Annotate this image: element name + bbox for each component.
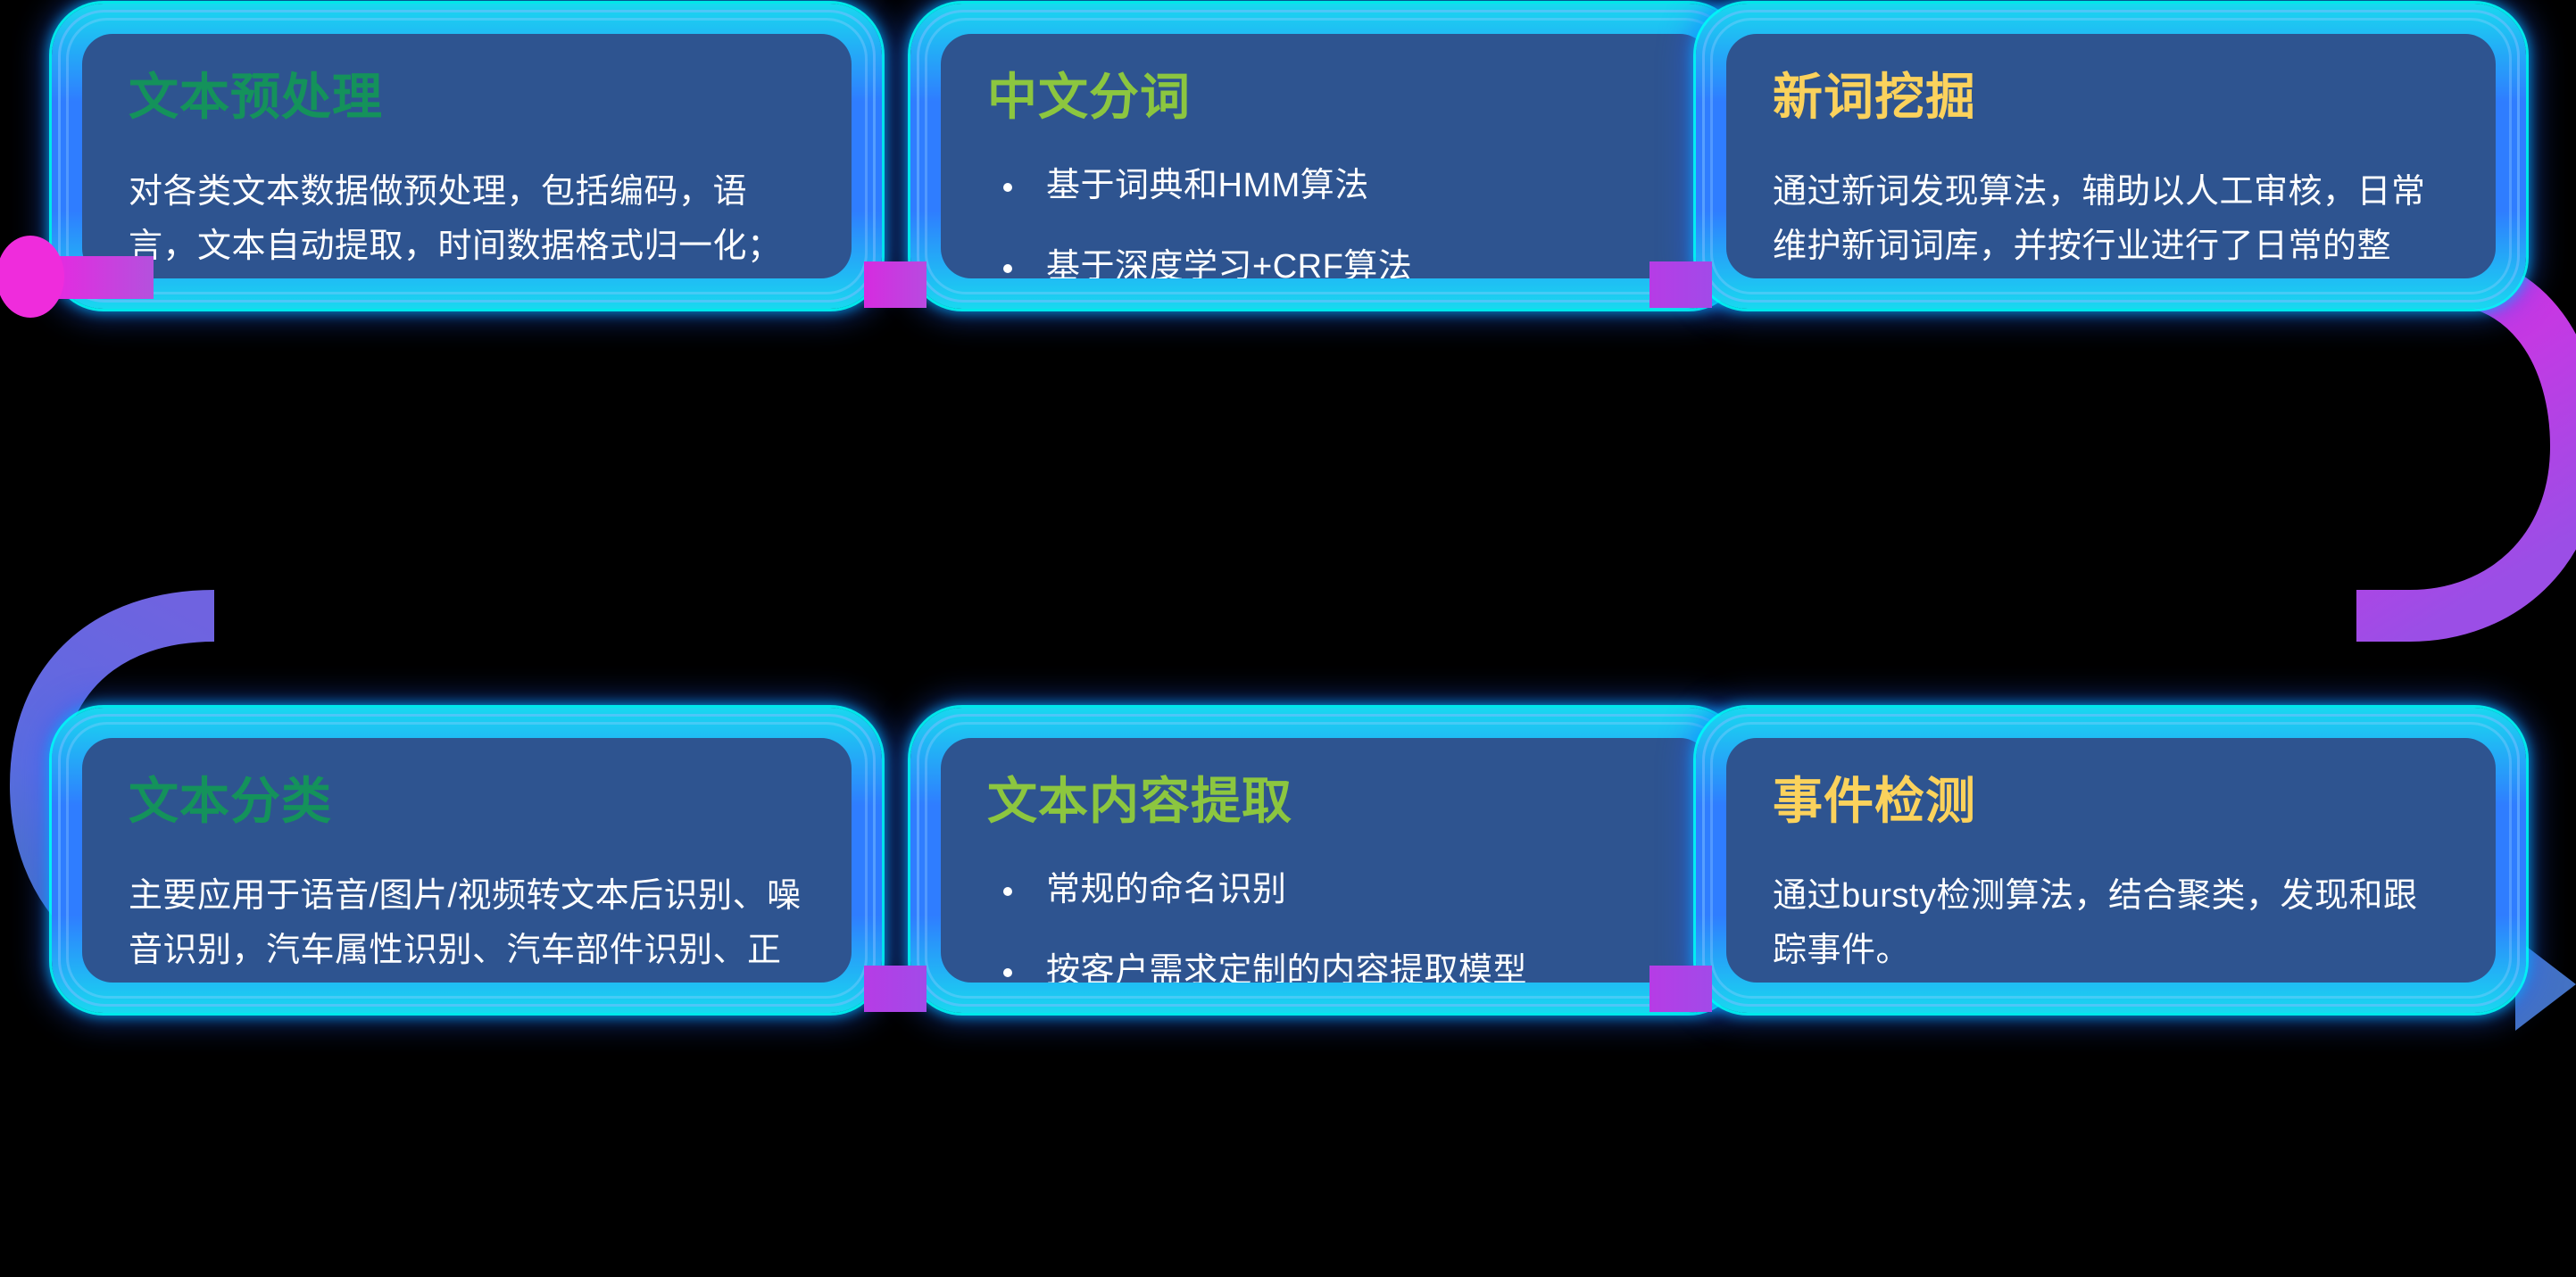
card-body: 文本内容提取 常规的命名识别 按客户需求定制的内容提取模型 [941,738,1710,983]
card-paragraph: 通过bursty检测算法，结合聚类，发现和跟踪事件。 [1773,869,2449,979]
card-title: 新词挖掘 [1773,71,2449,124]
card-body: 事件检测 通过bursty检测算法，结合聚类，发现和跟踪事件。 [1726,738,2496,983]
card-title: 中文分词 [987,71,1664,124]
list-item: 按客户需求定制的内容提取模型 [987,950,1664,983]
bullet-dot-icon [1003,968,1012,977]
diagram-canvas: 文本预处理 对各类文本数据做预处理，包括编码，语言，文本自动提取，时间数据格式归… [0,0,2576,1277]
card-title: 文本内容提取 [987,775,1664,828]
card-title: 事件检测 [1773,775,2449,828]
list-item-label: 常规的命名识别 [1046,871,1287,908]
link-chip-row2-2 [1649,966,1712,1012]
bullet-dot-icon [1003,183,1012,192]
list-item-label: 按客户需求定制的内容提取模型 [1046,952,1527,983]
list-item-label: 基于词典和HMM算法 [1046,167,1369,204]
link-chip-row1-1 [864,261,927,308]
card-body: 文本预处理 对各类文本数据做预处理，包括编码，语言，文本自动提取，时间数据格式归… [82,34,852,278]
card-text-classification[interactable]: 文本分类 主要应用于语音/图片/视频转文本后识别、噪音识别，汽车属性识别、汽车部… [52,708,882,1013]
list-item-label: 基于深度学习+CRF算法 [1046,248,1412,278]
link-chip-row1-2 [1649,261,1712,308]
card-bullet-list: 基于词典和HMM算法 基于深度学习+CRF算法 行业专有词典 [987,165,1664,278]
card-bullet-list: 常规的命名识别 按客户需求定制的内容提取模型 [987,869,1664,983]
card-new-word-mining[interactable]: 新词挖掘 通过新词发现算法，辅助以人工审核，日常维护新词词库，并按行业进行了日常… [1696,4,2526,309]
card-body: 中文分词 基于词典和HMM算法 基于深度学习+CRF算法 行业专有词典 [941,34,1710,278]
link-chip-row2-1 [864,966,927,1012]
card-paragraph: 主要应用于语音/图片/视频转文本后识别、噪音识别，汽车属性识别、汽车部件识别、正… [129,869,805,983]
connector-right-loop [2356,278,2576,616]
start-connector-stem [55,256,154,299]
card-paragraph: 通过新词发现算法，辅助以人工审核，日常维护新词词库，并按行业进行了日常的整理。 [1773,165,2449,278]
list-item: 基于深度学习+CRF算法 [987,246,1664,278]
list-item: 常规的命名识别 [987,869,1664,912]
card-body: 文本分类 主要应用于语音/图片/视频转文本后识别、噪音识别，汽车属性识别、汽车部… [82,738,852,983]
card-event-detection[interactable]: 事件检测 通过bursty检测算法，结合聚类，发现和跟踪事件。 [1696,708,2526,1013]
card-title: 文本预处理 [129,71,805,124]
card-paragraph: 对各类文本数据做预处理，包括编码，语言，文本自动提取，时间数据格式归一化；对特定… [129,165,805,278]
card-chinese-word-segmentation[interactable]: 中文分词 基于词典和HMM算法 基于深度学习+CRF算法 行业专有词典 [910,4,1741,309]
bullet-dot-icon [1003,887,1012,896]
card-text-content-extraction[interactable]: 文本内容提取 常规的命名识别 按客户需求定制的内容提取模型 [910,708,1741,1013]
card-body: 新词挖掘 通过新词发现算法，辅助以人工审核，日常维护新词词库，并按行业进行了日常… [1726,34,2496,278]
list-item: 基于词典和HMM算法 [987,165,1664,208]
card-title: 文本分类 [129,775,805,828]
card-text-preprocessing[interactable]: 文本预处理 对各类文本数据做预处理，包括编码，语言，文本自动提取，时间数据格式归… [52,4,882,309]
bullet-dot-icon [1003,264,1012,273]
